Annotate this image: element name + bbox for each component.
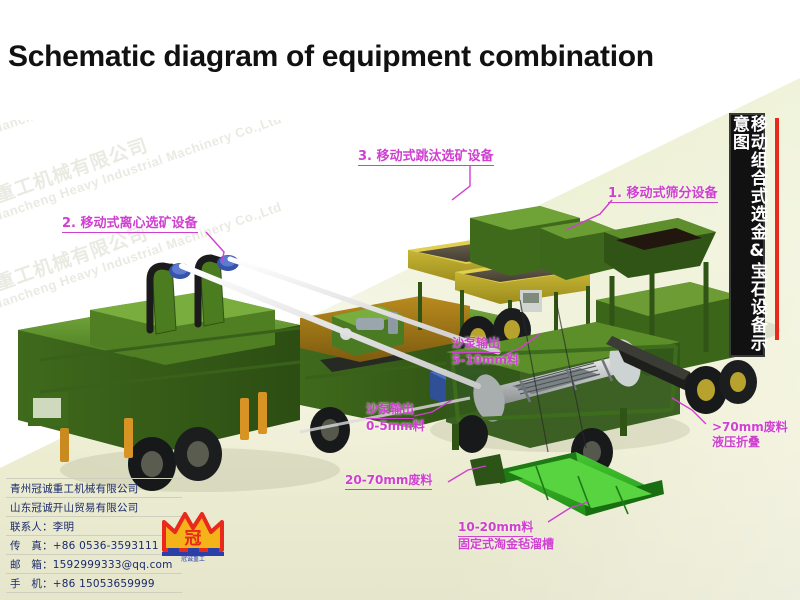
callout-centrifugal: 2. 移动式离心选矿设备 bbox=[62, 212, 198, 233]
vertical-title-text: 移动组合式选金&宝石设备示意图 bbox=[729, 115, 765, 355]
callout-jig: 3. 移动式跳汰选矿设备 bbox=[358, 145, 494, 166]
fax-number: 传 真：+86 0536-3593111 bbox=[6, 536, 182, 555]
email-address: 邮 箱：1592999333@qq.com bbox=[6, 555, 182, 574]
crown-logo-icon: 冠 冠诚重工 bbox=[158, 506, 228, 562]
contact-person: 联系人：李明 bbox=[6, 517, 182, 536]
company-name-2: 山东冠诚开山贸易有限公司 bbox=[6, 498, 182, 517]
callout-sluice-10-20: 10-20mm料 固定式淘金毡溜槽 bbox=[458, 520, 554, 551]
callout-screening: 1. 移动式筛分设备 bbox=[608, 182, 718, 203]
diagram-canvas: 青州冠诚重工机械有限公司 Qingzhou Guancheng Heavy In… bbox=[0, 0, 800, 600]
mobile-number: 手 机：+86 15053659999 bbox=[6, 574, 182, 593]
svg-text:冠: 冠 bbox=[185, 529, 202, 549]
red-accent-rule bbox=[775, 118, 779, 340]
svg-text:冠诚重工: 冠诚重工 bbox=[181, 555, 205, 562]
contact-card: 青州冠诚重工机械有限公司 山东冠诚开山贸易有限公司 联系人：李明 传 真：+86… bbox=[6, 478, 182, 593]
callout-waste-20-70: 20-70mm废料 bbox=[345, 473, 432, 490]
page-title: Schematic diagram of equipment combinati… bbox=[8, 40, 654, 74]
callout-waste-70: >70mm废料 液压折叠 bbox=[712, 420, 788, 449]
callout-pump-5-10: 沙泵输出 5-10mm料 bbox=[452, 336, 519, 367]
callout-pump-0-5: 沙泵输出 0-5mm料 bbox=[366, 402, 425, 433]
vertical-title-panel: 移动组合式选金&宝石设备示意图 bbox=[729, 113, 765, 357]
company-name-1: 青州冠诚重工机械有限公司 bbox=[6, 478, 182, 498]
